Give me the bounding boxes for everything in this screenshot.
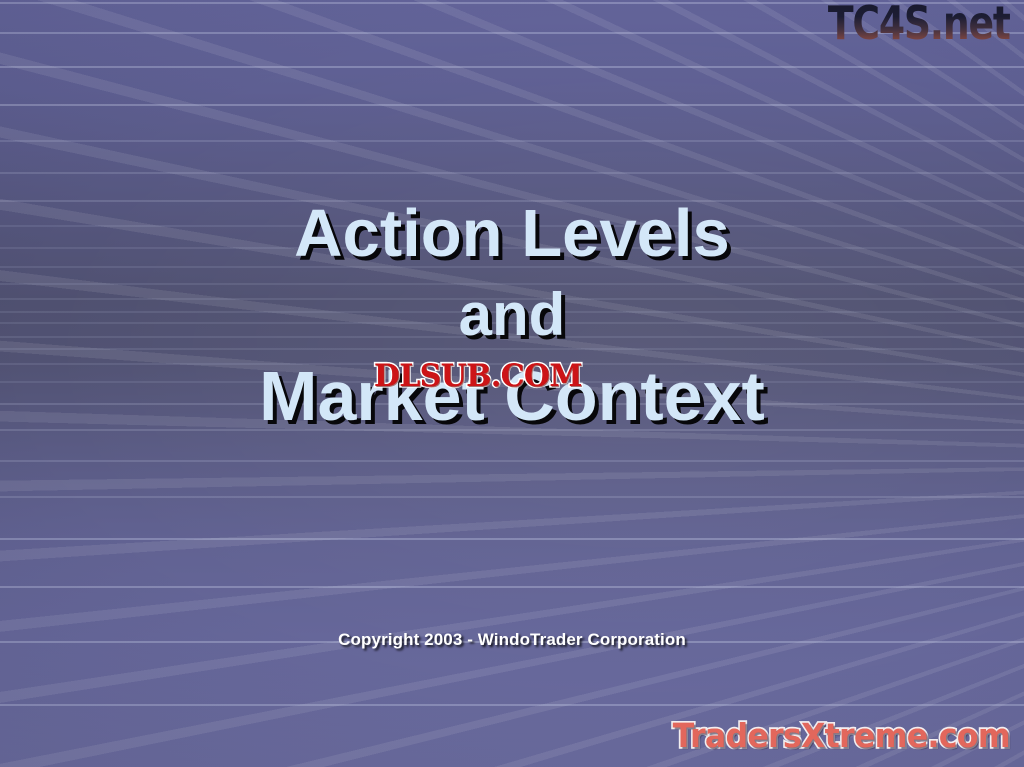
title-line-1: Action Levels (0, 192, 1024, 276)
watermark-tc4s: TC4S.net (828, 0, 1010, 50)
title-line-2: and (0, 276, 1024, 354)
perspective-grid-horizontal-lines-lower (0, 330, 1024, 767)
slide-title: Action Levels and Market Context (0, 192, 1024, 438)
watermark-tradersxtreme: TradersXtreme.com TradersXtreme.com (673, 716, 1010, 755)
watermark-dlsub: DLSUB.COM DLSUB.COM (374, 358, 582, 394)
watermark-tradersxtreme-fill: TradersXtreme.com (673, 716, 1010, 755)
presentation-slide: TC4S.net Action Levels and Market Contex… (0, 0, 1024, 767)
watermark-dlsub-fill: DLSUB.COM (374, 358, 582, 394)
copyright-notice: Copyright 2003 - WindoTrader Corporation (0, 630, 1024, 650)
